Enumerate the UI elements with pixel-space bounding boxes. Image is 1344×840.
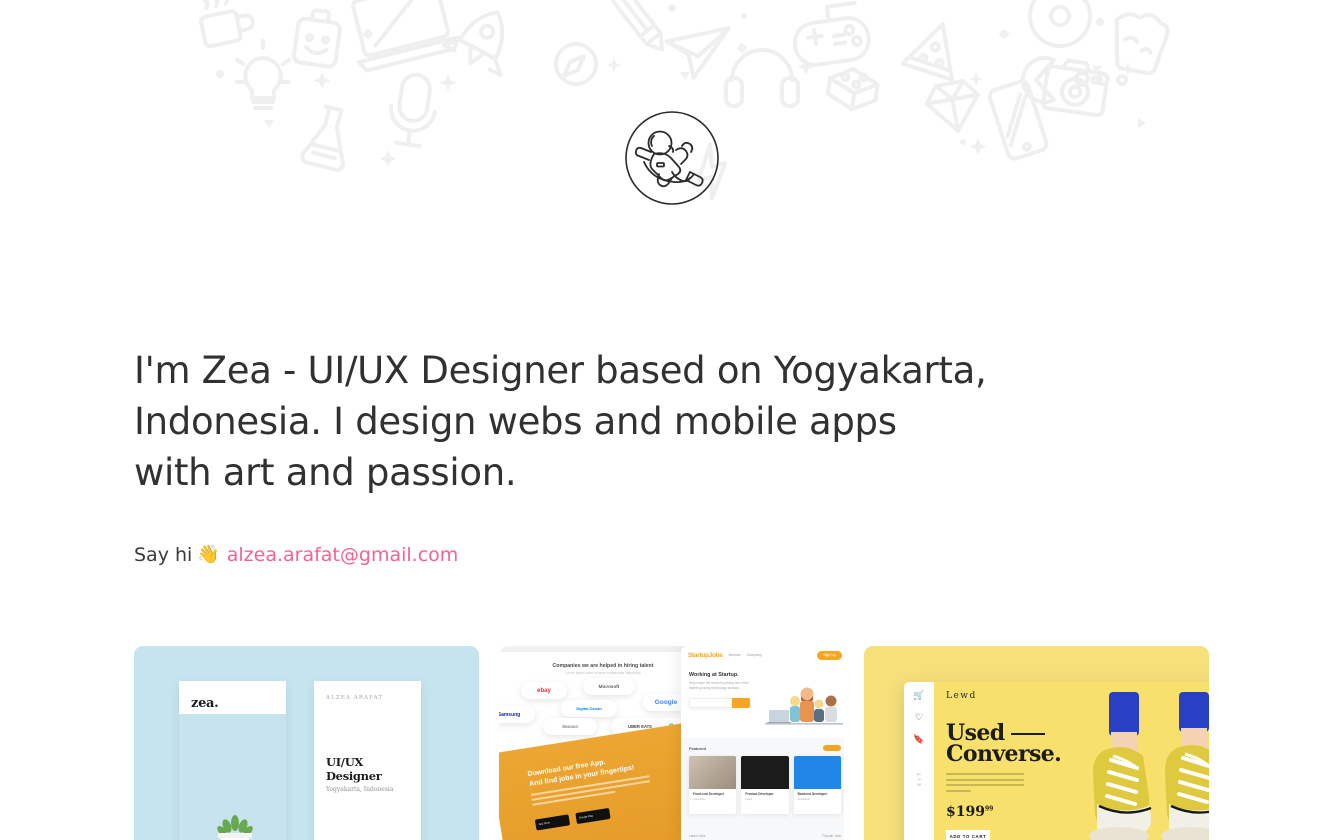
coffee-mug-icon: [197, 0, 257, 47]
googleplay-button[interactable]: Google Play: [575, 808, 610, 824]
converse-shoes-photo: [1079, 692, 1209, 840]
contact-prefix: Say hi: [134, 542, 192, 568]
job-thumb: [689, 756, 736, 789]
add-to-cart-button[interactable]: ADD TO CART: [946, 830, 990, 840]
page-title: I'm Zea - UI/UX Designer based on Yogyak…: [134, 345, 1144, 498]
job-card[interactable]: Backend Developer Bukalapak: [794, 756, 841, 814]
pacman-icon: [1023, 58, 1054, 102]
shop-sidebar: 🛒 ♡ 🔖 1 / 3: [904, 682, 934, 840]
logos-title: Companies we are helped in hiring talent: [513, 663, 693, 669]
pacman-dot: [1076, 73, 1088, 85]
lego-brick-icon: [826, 66, 879, 112]
nav-signup-button[interactable]: Sign Up: [817, 651, 842, 660]
price-value: $199: [946, 804, 985, 820]
site-navbar: StartupJobs Browse Company Sign Up: [681, 646, 844, 664]
site-search-input[interactable]: [689, 698, 751, 708]
contact-line: Say hi 👋 alzea.arafat@gmail.com: [134, 542, 1144, 568]
pacman-dot: [1118, 76, 1126, 84]
product-description: [946, 773, 1024, 792]
site-footer: Latest Jobs Popular Jobs: [689, 834, 841, 838]
nav-item-browse[interactable]: Browse: [729, 653, 741, 657]
job-title: Backend Developer: [798, 792, 837, 796]
job-thumb: [794, 756, 841, 789]
laptop-icon: [344, 0, 460, 72]
business-card-front: zea.: [179, 681, 286, 840]
job-thumb: [741, 756, 788, 789]
brand-pill-sococo: Sococo: [543, 718, 597, 735]
brand-pill-samsung: Samsung: [499, 706, 535, 723]
waving-hand-icon: 👋: [197, 546, 219, 564]
lego-head-icon: [293, 8, 342, 67]
hero-section: I'm Zea - UI/UX Designer based on Yogyak…: [134, 345, 1144, 568]
project-card-startup-jobs[interactable]: Companies we are helped in hiring talent…: [499, 646, 844, 840]
nav-item-company[interactable]: Company: [747, 653, 762, 657]
job-company: Bukalapak: [798, 798, 837, 801]
smartphone-icon: [988, 80, 1048, 161]
diamond-icon: [924, 79, 984, 135]
card-eyebrow: ALZEA ARAFAT: [326, 695, 421, 701]
job-card[interactable]: Front-end Developer Tokopedia: [689, 756, 736, 814]
add-to-cart-label: ADD TO CART: [950, 834, 987, 839]
card-role: UI/UX Designer: [326, 755, 421, 783]
job-card[interactable]: Product Developer Gojek: [741, 756, 788, 814]
price-cents: 99: [985, 805, 993, 812]
flask-icon: [301, 104, 356, 171]
plant-illustration: [213, 809, 257, 840]
brand-pill-ebay: ebay: [521, 682, 567, 699]
job-title: Product Developer: [745, 792, 784, 796]
project-card-converse-shop[interactable]: 🛒 ♡ 🔖 1 / 3 Lewd Used Converse. $199: [864, 646, 1209, 840]
job-company: Gojek: [745, 798, 784, 801]
appstore-button[interactable]: App Store: [535, 814, 570, 830]
compass-icon: [556, 44, 596, 84]
lightbulb-icon: [237, 41, 289, 108]
bookmark-icon[interactable]: 🔖: [913, 735, 924, 744]
heart-icon[interactable]: ♡: [915, 713, 923, 722]
rocket-icon: [442, 0, 526, 79]
game-controller-icon: [790, 2, 871, 68]
job-company: Tokopedia: [693, 798, 732, 801]
googleplay-label: Google Play: [579, 814, 593, 819]
project-cards-row: zea. ALZEA ARAFAT UI/UX Designer: [134, 646, 1210, 840]
logos-subtitle: Lorem ipsum dolor sit amet consectetur a…: [533, 671, 673, 675]
product-title-line2: Converse.: [946, 741, 1061, 767]
card-location: Yogyakarta, Indonesia: [326, 786, 421, 793]
paper-plane-icon: [660, 16, 728, 83]
footer-left-label[interactable]: Latest Jobs: [689, 834, 705, 838]
featured-grid: Front-end Developer Tokopedia Product De…: [689, 756, 841, 814]
shop-content: Lewd Used Converse. $19999 ADD TO CART: [934, 682, 1209, 840]
shop-mockup: 🛒 ♡ 🔖 1 / 3 Lewd Used Converse. $199: [904, 682, 1209, 840]
team-illustration: [765, 684, 843, 728]
site-hero-sub: Help shape the future by joining one of …: [689, 681, 749, 691]
job-title: Front-end Developer: [693, 792, 732, 796]
popcorn-icon: [1108, 9, 1170, 75]
portfolio-landing-page: I'm Zea - UI/UX Designer based on Yogyak…: [0, 0, 1344, 840]
pacman-dot: [1098, 74, 1108, 84]
site-hero-title: Working at Startup.: [689, 672, 841, 678]
brand-mark: zea.: [191, 696, 286, 711]
site-search-button[interactable]: [732, 698, 750, 708]
astronaut-logo[interactable]: [624, 110, 720, 206]
brand-pill-digitalocean: Digital Ocean: [561, 700, 617, 717]
microphone-icon: [386, 72, 439, 147]
cd-icon: [1030, 0, 1090, 46]
site-hero: Working at Startup. Help shape the futur…: [681, 664, 844, 738]
cart-icon[interactable]: 🛒: [913, 691, 924, 700]
project-card-business-card[interactable]: zea. ALZEA ARAFAT UI/UX Designer: [134, 646, 479, 840]
featured-label: Featured: [689, 746, 706, 751]
camera-icon: [1042, 58, 1108, 116]
site-logo[interactable]: StartupJobs: [688, 652, 723, 659]
appstore-label: App Store: [538, 821, 550, 826]
pager-label: 1 / 3: [917, 773, 922, 787]
footer-right-label[interactable]: Popular Jobs: [822, 834, 841, 838]
site-featured: Featured Front-end Developer Tokopedia P…: [681, 738, 844, 821]
business-card-back: ALZEA ARAFAT UI/UX Designer Yogyakarta, …: [314, 681, 421, 840]
featured-more-button[interactable]: [823, 745, 841, 751]
brand-pill-microsoft: Microsoft: [583, 678, 635, 695]
headphones-icon: [726, 50, 798, 106]
email-link[interactable]: alzea.arafat@gmail.com: [227, 542, 459, 568]
pizza-icon: [903, 16, 968, 80]
featured-header: Featured: [689, 745, 841, 751]
pencil-icon: [612, 0, 669, 55]
title-rule: [1011, 733, 1045, 735]
site-mockup: StartupJobs Browse Company Sign Up Worki…: [681, 646, 844, 840]
